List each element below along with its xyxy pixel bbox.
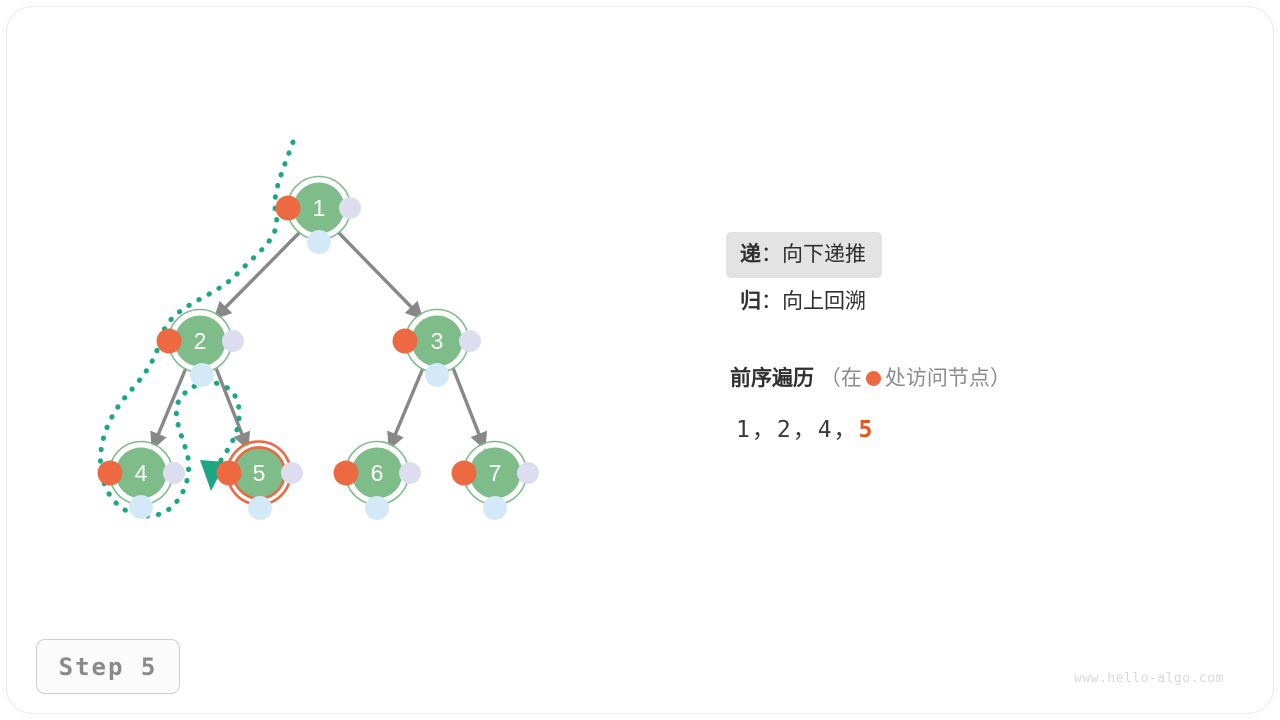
node-4-visit-dot: [98, 461, 123, 486]
legend-recurse-text: 向下递推: [782, 243, 866, 266]
watermark: www.hello-algo.com: [1074, 671, 1224, 686]
legend-recurse-sep: ：: [761, 243, 782, 266]
legend-recurse: 递：向下递推: [726, 232, 882, 278]
edge-3-6: [390, 368, 423, 447]
tree-node-4[interactable]: 4: [98, 442, 186, 520]
node-7-bottom-dot: [483, 496, 507, 520]
legend-backtrack-text: 向上回溯: [782, 290, 866, 313]
traversal-paren-text: 处访问节点）: [885, 367, 1011, 390]
node-7-right-dot: [517, 462, 539, 484]
node-5-label: 5: [253, 460, 266, 486]
legend-backtrack-sep: ：: [761, 290, 782, 313]
node-1-label: 1: [313, 195, 326, 221]
tree-node-3[interactable]: 3: [393, 310, 482, 388]
node-2-visit-dot: [157, 329, 182, 354]
node-1-bottom-dot: [307, 230, 331, 254]
traversal-visited: 1，2，4，: [736, 417, 859, 443]
node-7-visit-dot: [452, 461, 477, 486]
node-5-bottom-dot: [248, 496, 272, 520]
legend-backtrack: 归：向上回溯: [726, 288, 1246, 316]
node-1-right-dot: [339, 197, 361, 219]
node-2-label: 2: [194, 328, 207, 354]
edge-1-3: [338, 232, 421, 317]
node-4-bottom-dot: [129, 495, 153, 519]
legend-recurse-label: 递: [740, 243, 761, 266]
node-6-right-dot: [399, 462, 421, 484]
step-badge-label: Step 5: [59, 653, 158, 681]
traversal-heading: 前序遍历 （在处访问节点）: [730, 362, 1011, 392]
visit-dot-icon: [866, 371, 881, 386]
edge-2-5: [216, 368, 247, 447]
node-6-bottom-dot: [365, 496, 389, 520]
node-3-right-dot: [459, 330, 481, 352]
node-1-visit-dot: [276, 196, 301, 221]
node-5-visit-dot: [217, 461, 242, 486]
node-4-right-dot: [163, 462, 185, 484]
traversal-title: 前序遍历: [730, 367, 814, 390]
node-7-label: 7: [489, 460, 502, 486]
node-4-label: 4: [135, 460, 148, 486]
edge-3-7: [453, 368, 484, 447]
tree-node-6[interactable]: 6: [334, 442, 422, 521]
node-2-bottom-dot: [190, 363, 214, 387]
traversal-sequence: 1，2，4，5: [736, 410, 874, 444]
legend-panel: 递：向下递推 归：向上回溯: [726, 232, 1246, 338]
node-3-label: 3: [431, 328, 444, 354]
traversal-current: 5: [859, 417, 875, 443]
node-2-right-dot: [222, 330, 244, 352]
figure-canvas: 1 2 3 4: [0, 0, 1280, 720]
node-6-visit-dot: [334, 461, 359, 486]
traversal-paren-open: （在: [820, 367, 862, 390]
legend-backtrack-label: 归: [740, 290, 761, 313]
tree-node-5[interactable]: 5: [217, 442, 304, 521]
binary-tree-diagram: 1 2 3 4: [0, 0, 1280, 720]
tree-node-7[interactable]: 7: [452, 442, 540, 521]
node-5-right-dot: [281, 462, 303, 484]
node-6-label: 6: [371, 460, 384, 486]
edge-1-2: [216, 232, 300, 317]
node-3-visit-dot: [393, 329, 418, 354]
node-3-bottom-dot: [425, 363, 449, 387]
step-badge: Step 5: [36, 639, 180, 694]
